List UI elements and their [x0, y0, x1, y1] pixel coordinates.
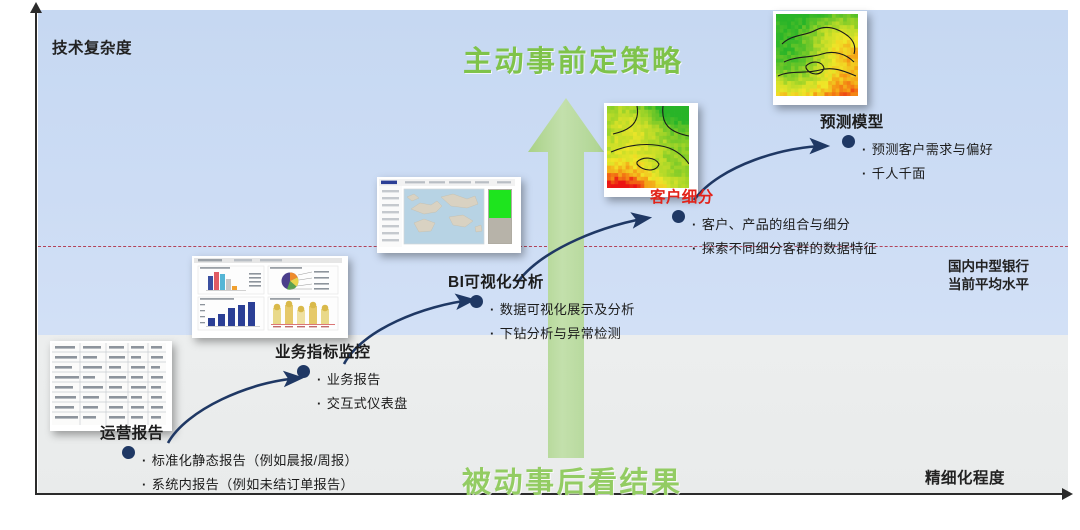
maturity-diagram-slide: 技术复杂度 精细化程度 国内中型银行 当前平均水平 主动事前定策略 被动事后看结…: [0, 0, 1080, 530]
slide-frame: [0, 0, 1080, 530]
